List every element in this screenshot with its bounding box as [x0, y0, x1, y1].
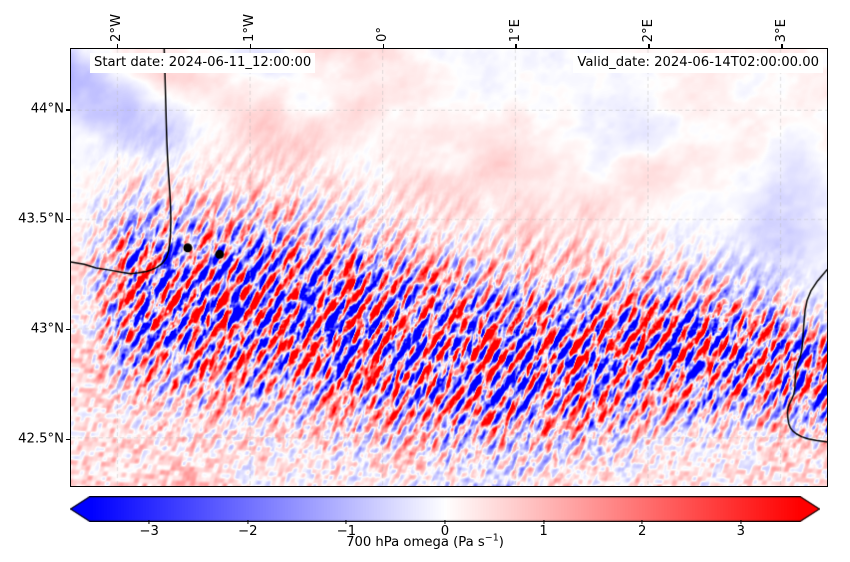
lon-tick-0°: 0°	[375, 27, 390, 42]
x-tick-mark	[648, 44, 649, 48]
valid-date-annotation: Valid_date: 2024-06-14T02:00:00.00	[573, 53, 823, 73]
colorbar-gradient	[70, 496, 820, 522]
map-axes[interactable]: Start date: 2024-06-11_12:00:00 Valid_da…	[70, 48, 828, 487]
lat-tick-42.5°N: 42.5°N	[18, 431, 64, 446]
y-tick-mark	[66, 439, 70, 440]
y-tick-mark	[66, 219, 70, 220]
x-tick-mark	[250, 44, 251, 48]
x-tick-mark	[781, 44, 782, 48]
lat-tick-43°N: 43°N	[31, 321, 64, 336]
lat-tick-44°N: 44°N	[31, 102, 64, 117]
colorbar-axis-label: 700 hPa omega (Pa s−1)	[0, 535, 850, 550]
lat-tick-43.5°N: 43.5°N	[18, 212, 64, 227]
lon-tick-2°W: 2°W	[109, 14, 124, 42]
x-tick-mark	[383, 44, 384, 48]
start-date-annotation: Start date: 2024-06-11_12:00:00	[90, 53, 315, 73]
x-tick-mark	[117, 44, 118, 48]
lon-tick-1°W: 1°W	[242, 14, 257, 42]
lon-tick-1°E: 1°E	[508, 19, 523, 42]
lon-tick-2°E: 2°E	[641, 19, 656, 42]
figure-canvas: Start date: 2024-06-11_12:00:00 Valid_da…	[0, 0, 850, 562]
omega-field-heatmap	[71, 49, 827, 486]
y-tick-mark	[66, 329, 70, 330]
colorbar[interactable]	[90, 496, 800, 522]
lon-tick-3°E: 3°E	[774, 19, 789, 42]
y-tick-mark	[66, 109, 70, 110]
x-tick-mark	[515, 44, 516, 48]
